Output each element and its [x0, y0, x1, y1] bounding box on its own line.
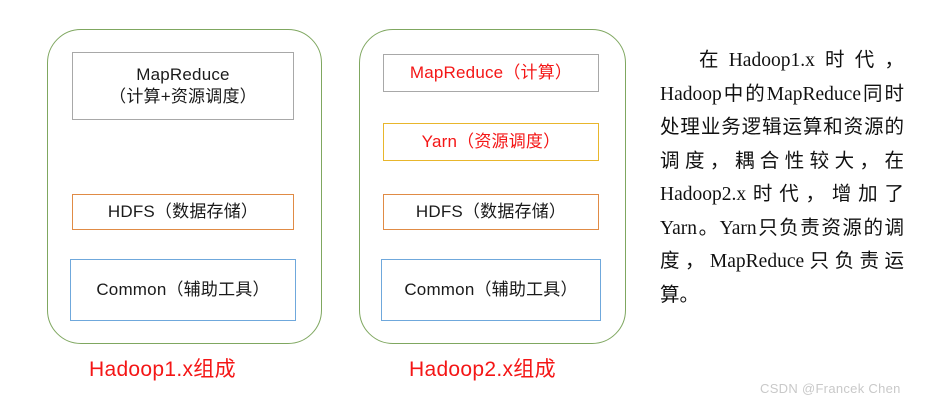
box-hadoop1-mapreduce-line2: （计算+资源调度）	[109, 86, 257, 108]
diagram-canvas: MapReduce （计算+资源调度） HDFS（数据存储） Common（辅助…	[0, 0, 938, 408]
caption-hadoop2: Hadoop2.x组成	[409, 353, 556, 383]
box-hadoop1-common-label: Common（辅助工具）	[96, 279, 269, 301]
box-hadoop2-yarn-label: Yarn（资源调度）	[422, 131, 561, 153]
watermark-text: CSDN @Francek Chen	[760, 381, 901, 396]
box-hadoop1-hdfs: HDFS（数据存储）	[72, 194, 294, 230]
box-hadoop2-common-label: Common（辅助工具）	[404, 279, 577, 301]
box-hadoop2-yarn: Yarn（资源调度）	[383, 123, 599, 161]
box-hadoop1-mapreduce-line1: MapReduce	[109, 64, 257, 86]
box-hadoop2-mapreduce: MapReduce（计算）	[383, 54, 599, 92]
caption-hadoop1: Hadoop1.x组成	[89, 353, 236, 383]
box-hadoop1-hdfs-label: HDFS（数据存储）	[108, 201, 258, 223]
box-hadoop2-hdfs: HDFS（数据存储）	[383, 194, 599, 230]
box-hadoop2-mapreduce-label: MapReduce（计算）	[410, 62, 572, 84]
box-hadoop2-common: Common（辅助工具）	[381, 259, 601, 321]
box-hadoop1-mapreduce: MapReduce （计算+资源调度）	[72, 52, 294, 120]
box-hadoop2-hdfs-label: HDFS（数据存储）	[416, 201, 566, 223]
box-hadoop1-common: Common（辅助工具）	[70, 259, 296, 321]
description-paragraph: 在Hadoop1.x时代，Hadoop中的MapReduce同时处理业务逻辑运算…	[660, 44, 904, 312]
